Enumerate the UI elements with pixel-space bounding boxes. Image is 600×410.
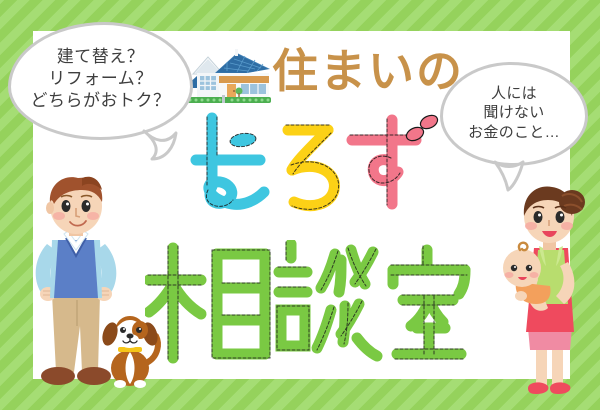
banner-root: 建て替え？ リフォーム？ どちらがおトク？ 人には 聞けない お金のこと… 住ま… [0, 0, 600, 410]
question-bubble-left: 建て替え？ リフォーム？ どちらがおトク？ [8, 22, 193, 140]
dog-character [100, 310, 164, 392]
dakuten-marks [404, 113, 439, 143]
woman-with-baby-character [486, 186, 592, 408]
bubble-tail-left-icon [140, 125, 182, 167]
title-suffix-soudan [145, 240, 485, 365]
title-main-yorozu [186, 108, 446, 218]
title-prefix: 住まいの [272, 48, 464, 94]
